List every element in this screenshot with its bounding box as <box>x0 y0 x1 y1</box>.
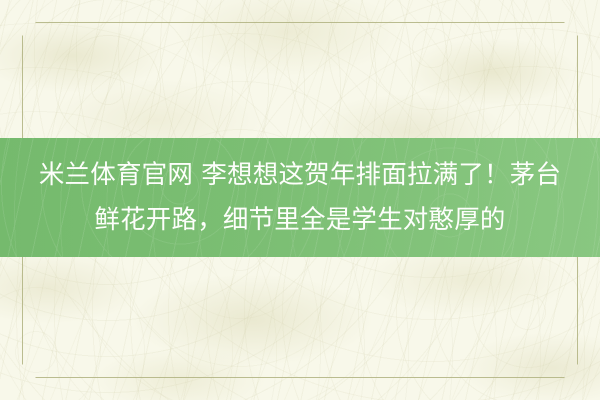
headline-line-1: 米兰体育官网 李想想这贺年排面拉满了！茅台 <box>39 153 561 198</box>
article-cover-image: 米兰体育官网 李想想这贺年排面拉满了！茅台 鲜花开路，细节里全是学生对憨厚的 <box>0 0 600 400</box>
headline-banner: 米兰体育官网 李想想这贺年排面拉满了！茅台 鲜花开路，细节里全是学生对憨厚的 <box>0 138 600 257</box>
headline-line-2: 鲜花开路，细节里全是学生对憨厚的 <box>94 198 505 243</box>
